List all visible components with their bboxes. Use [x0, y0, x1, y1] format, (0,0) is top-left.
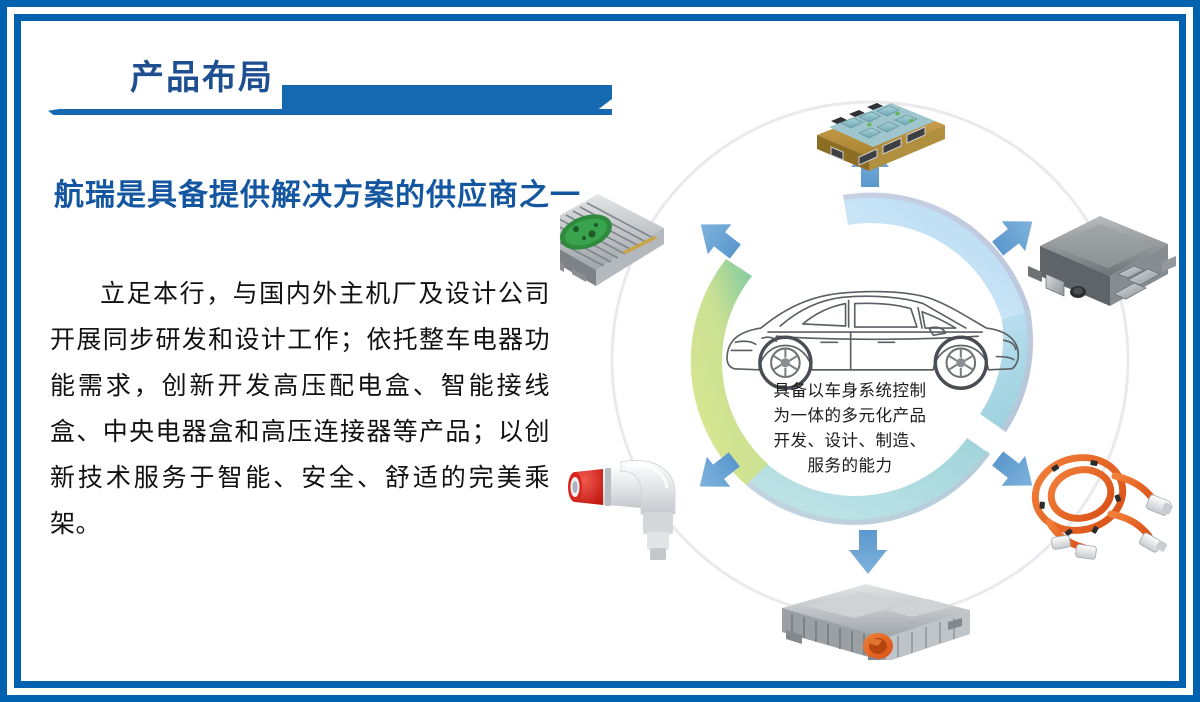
title-underline-shape [48, 109, 612, 115]
product-finned-heatsink-ecu [560, 194, 664, 286]
body-paragraph: 立足本行，与国内外主机厂及设计公司开展同步研发和设计工作；依托整车电器功能需求，… [50, 272, 550, 548]
arrow-upper-left [689, 209, 747, 266]
product-layout-diagram: 具备以车身系统控制 为一体的多元化产品 开发、设计、制造、 服务的能力 [560, 60, 1180, 660]
subtitle-heading: 航瑞是具备提供解决方案的供应商之一 [54, 170, 581, 214]
center-caption-line-3: 开发、设计、制造、 [735, 428, 965, 453]
sedan-car-illustration [727, 292, 1018, 389]
page-title: 产品布局 [130, 58, 274, 98]
center-caption: 具备以车身系统控制 为一体的多元化产品 开发、设计、制造、 服务的能力 [735, 378, 965, 478]
arrow-bottom [849, 530, 887, 574]
center-caption-line-2: 为一体的多元化产品 [735, 403, 965, 428]
diagram-svg [560, 60, 1180, 660]
product-smart-junction-box [817, 103, 945, 171]
center-caption-line-1: 具备以车身系统控制 [735, 378, 965, 403]
product-hv-power-distribution-unit [782, 584, 970, 660]
product-gray-control-enclosure [1028, 216, 1176, 306]
slide-page: 产品布局 航瑞是具备提供解决方案的供应商之一 立足本行，与国内外主机厂及设计公司… [0, 0, 1200, 702]
center-caption-line-4: 服务的能力 [735, 453, 965, 478]
product-hv-angled-connector [568, 460, 675, 560]
section-title-block: 产品布局 [44, 58, 604, 120]
